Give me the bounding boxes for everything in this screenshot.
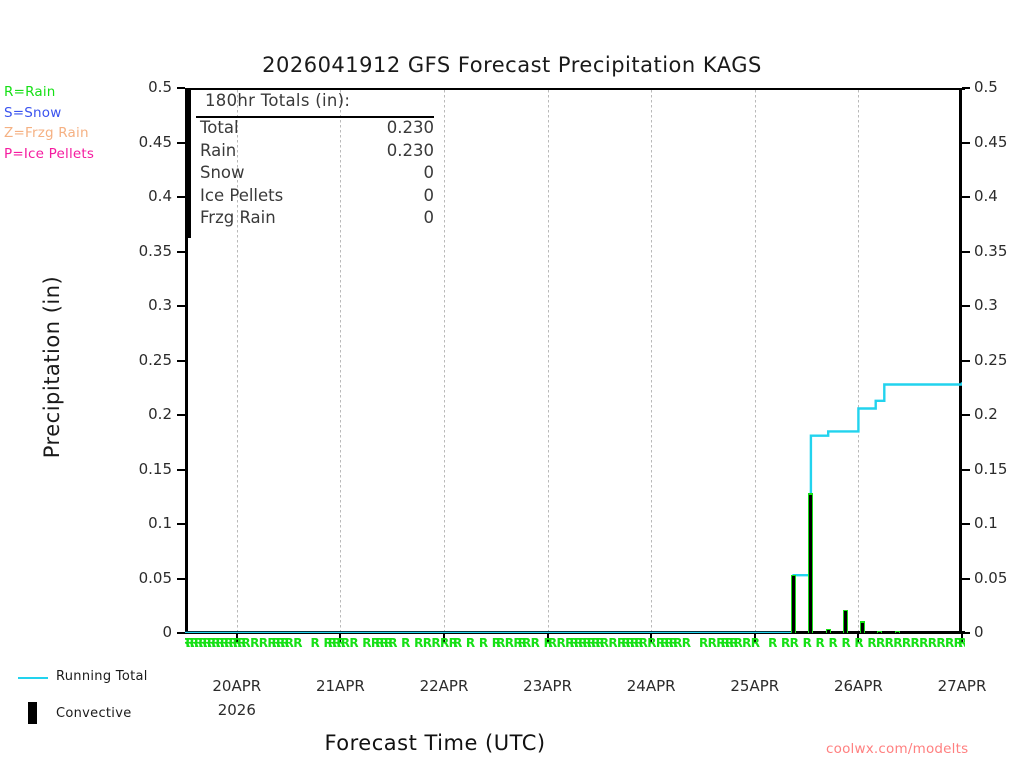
ptype-marker: R: [854, 637, 863, 649]
y-axis-tick: [177, 360, 185, 362]
totals-row-label: Frzg Rain: [200, 208, 276, 227]
totals-row-value: 0.230: [306, 118, 434, 137]
y-axis-tick: [177, 469, 185, 471]
x-axis-tick-label: 23APR: [503, 677, 593, 695]
y-axis-tick: [177, 142, 185, 144]
y-axis-tick-label: 0: [974, 623, 1024, 641]
y-axis-tick-label: 0.1: [974, 514, 1024, 532]
precipitation-chart: 2026041912 GFS Forecast Precipitation KA…: [0, 0, 1024, 768]
y-axis-title: Precipitation (in): [40, 197, 64, 537]
totals-row: Rain0.230: [196, 141, 436, 164]
y-axis-tick: [962, 87, 970, 89]
legend-convective-label: Convective: [56, 706, 132, 721]
ptype-marker: R: [958, 637, 965, 649]
totals-heading: 180hr Totals (in):: [205, 91, 350, 110]
y-axis-tick: [962, 305, 970, 307]
legend-running-total-swatch: [18, 677, 48, 679]
x-axis-tick-label: 24APR: [606, 677, 696, 695]
credit-watermark: coolwx.com/modelts: [826, 741, 968, 757]
ptype-marker-row: RRRRRRRRRRRRRRRRRRRRRRRRRRRRRRRRRRRRRRRR…: [185, 636, 965, 656]
ptype-marker: R: [531, 637, 540, 649]
y-axis-tick-label: 0.5: [974, 78, 1024, 96]
convective-bar: [861, 623, 864, 633]
y-axis-tick-label: 0.35: [974, 242, 1024, 260]
y-axis-tick: [177, 632, 185, 634]
ptype-marker: R: [466, 637, 475, 649]
totals-row-label: Total: [200, 118, 239, 137]
ptype-marker: R: [829, 637, 838, 649]
y-axis-tick-label: 0.3: [974, 296, 1024, 314]
y-axis-tick-label: 0.5: [112, 78, 172, 96]
y-axis-tick-label: 0.25: [112, 351, 172, 369]
y-axis-tick-label: 0.45: [112, 133, 172, 151]
y-axis-tick: [962, 414, 970, 416]
totals-row-label: Ice Pellets: [200, 186, 283, 205]
y-axis-tick: [177, 305, 185, 307]
legend-running-total-label: Running Total: [56, 669, 148, 684]
ptype-marker: R: [790, 637, 799, 649]
convective-bar: [827, 630, 830, 633]
y-axis-tick: [962, 632, 970, 634]
y-axis-tick: [177, 87, 185, 89]
convective-bar: [878, 632, 881, 633]
totals-box: 180hr Totals (in): Total0.230Rain0.230Sn…: [188, 90, 438, 238]
ptype-marker: R: [479, 637, 488, 649]
y-axis-tick-label: 0.35: [112, 242, 172, 260]
x-axis-tick-label: 20APR: [192, 677, 282, 695]
y-axis-tick-label: 0.2: [974, 405, 1024, 423]
y-axis-tick-label: 0.4: [112, 187, 172, 205]
ptype-marker: R: [751, 637, 760, 649]
y-axis-tick: [962, 523, 970, 525]
y-axis-tick: [962, 578, 970, 580]
x-axis-tick-label: 22APR: [399, 677, 489, 695]
x-axis-tick-label: 27APR: [917, 677, 1007, 695]
y-axis-tick-label: 0.45: [974, 133, 1024, 151]
legend-convective-swatch: [28, 702, 37, 724]
ptype-marker: R: [453, 637, 462, 649]
totals-row-value: 0: [306, 208, 434, 227]
ptype-marker: R: [768, 637, 777, 649]
y-axis-tick: [177, 414, 185, 416]
totals-row: Snow0: [196, 163, 436, 186]
ptype-marker: R: [803, 637, 812, 649]
ptype-marker: R: [682, 637, 691, 649]
y-axis-tick: [177, 578, 185, 580]
totals-row: Frzg Rain0: [196, 208, 436, 231]
y-axis-tick: [177, 251, 185, 253]
y-axis-tick: [962, 469, 970, 471]
x-axis-tick-label: 26APR: [813, 677, 903, 695]
ptype-marker: R: [293, 637, 302, 649]
ptype-marker: R: [311, 637, 320, 649]
y-axis-tick: [962, 251, 970, 253]
x-axis-year-label: 2026: [192, 701, 282, 719]
x-axis-title: Forecast Time (UTC): [185, 731, 685, 755]
y-axis-tick: [962, 360, 970, 362]
y-axis-tick-label: 0.15: [112, 460, 172, 478]
totals-row-label: Snow: [200, 163, 245, 182]
page-title: 2026041912 GFS Forecast Precipitation KA…: [0, 53, 1024, 77]
y-axis-tick-label: 0.05: [112, 569, 172, 587]
x-axis-tick-label: 25APR: [710, 677, 800, 695]
convective-bar: [809, 495, 812, 633]
y-axis-tick-label: 0.4: [974, 187, 1024, 205]
y-axis-tick-label: 0.05: [974, 569, 1024, 587]
totals-row-value: 0: [306, 186, 434, 205]
totals-row-value: 0.230: [306, 141, 434, 160]
y-axis-tick-label: 0.25: [974, 351, 1024, 369]
y-axis-tick: [177, 196, 185, 198]
convective-bar: [844, 611, 847, 633]
y-axis-tick: [962, 196, 970, 198]
y-axis-tick: [962, 142, 970, 144]
y-axis-tick-label: 0: [112, 623, 172, 641]
key-snow: S=Snow: [4, 103, 164, 124]
ptype-marker: R: [349, 637, 358, 649]
convective-bar: [896, 632, 899, 633]
ptype-marker: R: [388, 637, 397, 649]
y-axis-tick-label: 0.15: [974, 460, 1024, 478]
totals-row: Total0.230: [196, 118, 436, 141]
convective-bar: [792, 576, 795, 633]
running-total-path: [185, 382, 962, 633]
ptype-marker: R: [816, 637, 825, 649]
y-axis-tick-label: 0.3: [112, 296, 172, 314]
x-axis-tick-label: 21APR: [295, 677, 385, 695]
y-axis-tick-label: 0.1: [112, 514, 172, 532]
ptype-marker: R: [841, 637, 850, 649]
y-axis-tick-label: 0.2: [112, 405, 172, 423]
y-axis-tick: [177, 523, 185, 525]
totals-row-label: Rain: [200, 141, 236, 160]
totals-row: Ice Pellets0: [196, 186, 436, 209]
totals-row-value: 0: [306, 163, 434, 182]
ptype-marker: R: [401, 637, 410, 649]
